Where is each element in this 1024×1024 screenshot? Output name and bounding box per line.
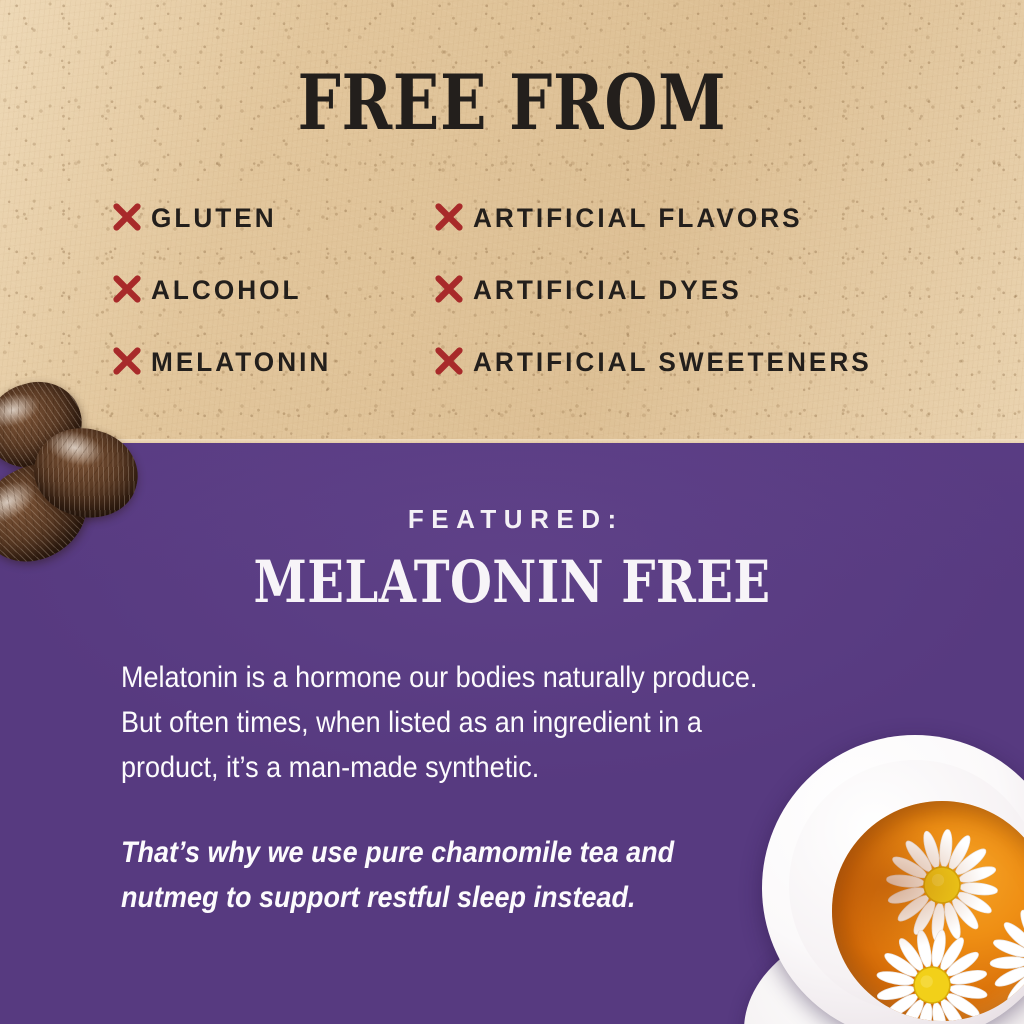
list-item-label: GLUTEN xyxy=(151,203,277,233)
chamomile-teacup-image xyxy=(762,735,1024,1024)
paragraph-line: product, it’s a man-made synthetic. xyxy=(121,745,832,790)
free-from-list: GLUTEN ALCOHOL xyxy=(0,182,1024,397)
list-item: ARTIFICIAL DYES xyxy=(434,254,884,326)
paragraph-line-italic: That’s why we use pure chamomile tea and xyxy=(121,830,832,875)
list-item-label: MELATONIN xyxy=(151,347,331,377)
x-mark-icon xyxy=(112,274,142,304)
x-mark-icon xyxy=(112,346,142,376)
featured-eyebrow: FEATURED: xyxy=(0,504,1024,534)
list-item-label: ARTIFICIAL FLAVORS xyxy=(473,203,803,233)
product-infographic: FREE FROM GLUTEN xyxy=(0,0,1024,1024)
list-item: ARTIFICIAL FLAVORS xyxy=(434,182,884,254)
chamomile-flower-icon xyxy=(866,919,999,1021)
x-mark-icon xyxy=(112,202,142,232)
free-from-column-right: ARTIFICIAL FLAVORS ARTIFICIAL DYES xyxy=(434,182,884,398)
paragraph-line-italic: nutmeg to support restful sleep instead. xyxy=(121,875,832,920)
tea-liquid xyxy=(832,801,1024,1021)
free-from-column-left: GLUTEN ALCOHOL xyxy=(112,182,337,398)
paragraph-line: But often times, when listed as an ingre… xyxy=(121,700,832,745)
paragraph-line: Melatonin is a hormone our bodies natura… xyxy=(121,655,832,700)
featured-headline: MELATONIN FREE xyxy=(87,549,937,615)
chamomile-flower-icon xyxy=(880,823,1003,946)
list-item-label: ALCOHOL xyxy=(151,275,302,305)
list-item: GLUTEN xyxy=(112,182,337,254)
x-mark-icon xyxy=(434,202,464,232)
teacup-body xyxy=(762,735,1024,1024)
list-item: ARTIFICIAL SWEETENERS xyxy=(434,326,884,398)
list-item-label: ARTIFICIAL DYES xyxy=(473,275,742,305)
x-mark-icon xyxy=(434,346,464,376)
free-from-title: FREE FROM xyxy=(102,61,921,145)
x-mark-icon xyxy=(434,274,464,304)
list-item: ALCOHOL xyxy=(112,254,337,326)
list-item-label: ARTIFICIAL SWEETENERS xyxy=(473,347,872,377)
nutmeg-seeds-image xyxy=(0,383,146,565)
teacup-rim xyxy=(789,760,1024,1012)
